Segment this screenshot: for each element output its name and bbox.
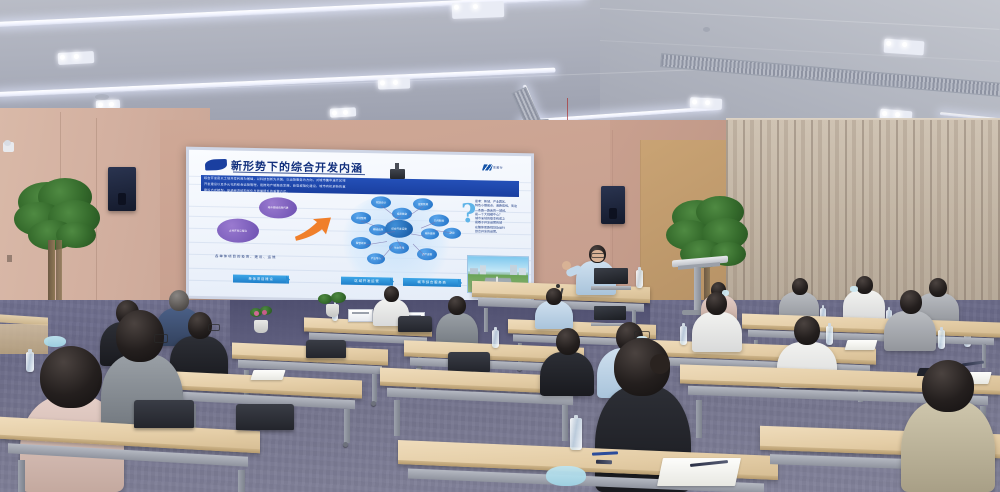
slide-ellipse-land: 土地开发与整治	[217, 218, 259, 243]
wall-speaker-right	[601, 186, 625, 224]
ceiling-downlight	[58, 51, 95, 65]
slide-ellipse-infrastructure: 城市基础设施代建	[259, 197, 297, 219]
notebook[interactable]	[250, 370, 285, 380]
company-logo: 东吴行	[483, 164, 503, 170]
ellipse-label: 城市基础设施代建	[268, 206, 289, 209]
ceiling-downlight	[452, 1, 505, 19]
attendee	[432, 296, 482, 348]
water-bottle[interactable]	[636, 270, 643, 288]
conference-room-photo: 新形势下的综合开发内涵 东吴行 综合开发是以土地开发利用为基础，以科技创新为关键…	[0, 0, 1000, 492]
side-credenza	[0, 316, 48, 356]
desk-row-d-left	[0, 424, 260, 444]
slide-tag-regional: 区域开发运营	[341, 277, 393, 286]
water-bottle[interactable]	[570, 418, 582, 450]
attendee	[880, 290, 940, 350]
slide-left-caption: 各单体项目的投资、建设、运维	[215, 253, 276, 259]
logo-text: 东吴行	[493, 166, 503, 170]
presenter-laptop[interactable]	[594, 268, 628, 290]
ellipse-label: 土地开发与整治	[229, 229, 247, 232]
water-bottle[interactable]	[26, 352, 34, 372]
face-mask-on-desk[interactable]	[44, 336, 66, 347]
water-bottle[interactable]	[938, 330, 945, 349]
chair[interactable]	[398, 316, 432, 332]
presenter-glasses	[591, 253, 605, 258]
flower-vase	[248, 306, 274, 334]
ceiling-downlight	[690, 97, 723, 110]
ceiling-antenna	[567, 98, 568, 120]
chair[interactable]	[306, 340, 346, 358]
ceiling-downlight	[884, 39, 925, 56]
flower-vase	[318, 292, 348, 318]
ceiling-downlight	[330, 107, 356, 117]
slide-tag-single-project: 单体项目建设	[233, 275, 289, 284]
network-links	[339, 193, 469, 275]
slide-title-bullet-icon	[205, 159, 228, 171]
attendee	[776, 278, 822, 320]
logo-mark-icon	[482, 164, 493, 170]
attendee	[536, 328, 598, 396]
presenter-hand	[562, 261, 571, 270]
projector-mount	[395, 163, 399, 170]
chair[interactable]	[236, 404, 294, 430]
wall-speaker-left	[108, 167, 136, 211]
slide-note-block: 思考：新城、产业园区、 特色小镇是点，道路是线，而这 一条路一路连的一城域， 是…	[475, 199, 527, 234]
attendee	[532, 288, 576, 328]
orange-arrow-icon	[293, 216, 335, 243]
face-mask-on-desk[interactable]	[546, 466, 586, 486]
ceiling-downlight	[378, 77, 410, 89]
notebook[interactable]	[845, 340, 878, 350]
presentation-slide: 新形势下的综合开发内涵 东吴行 综合开发是以土地开发利用为基础，以科技创新为关键…	[189, 150, 531, 303]
ceiling-sprinkler	[95, 94, 109, 100]
question-mark-icon: ?	[461, 199, 476, 229]
chair[interactable]	[134, 400, 194, 428]
water-bottle[interactable]	[492, 330, 499, 348]
pen[interactable]	[596, 460, 612, 465]
attendee-foreground-right	[896, 360, 1000, 492]
camera-lens-icon	[4, 140, 11, 146]
chair[interactable]	[448, 352, 490, 372]
ceiling-projector	[390, 169, 405, 179]
ceiling-sprinkler	[703, 27, 710, 32]
